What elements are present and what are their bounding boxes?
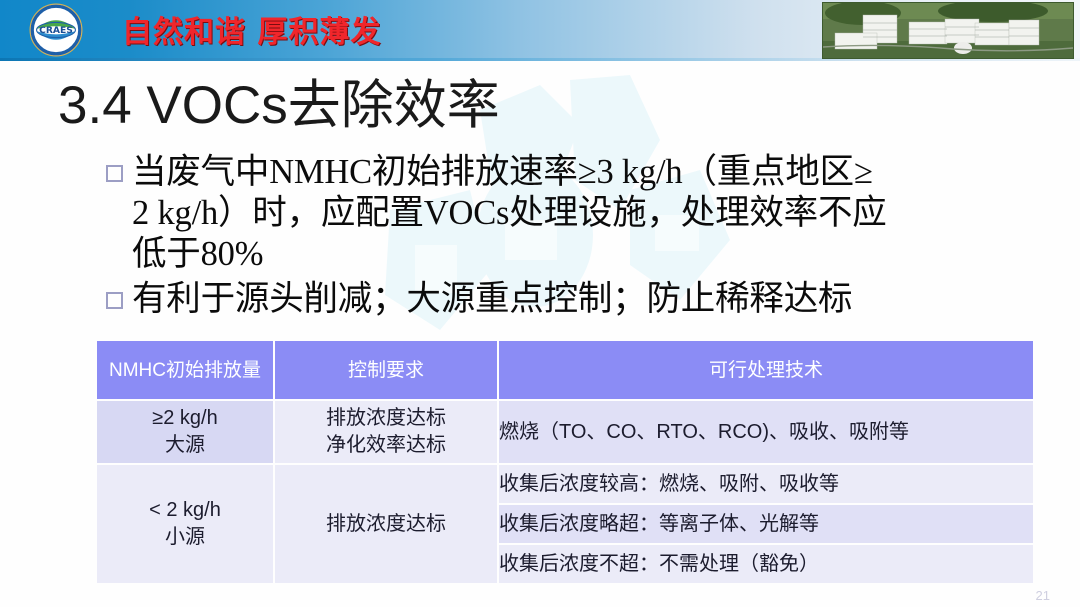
- req-large-line2: 净化效率达标: [275, 432, 497, 459]
- col-header-technology: 可行处理技术: [499, 341, 1033, 399]
- source-small-line1: < 2 kg/h: [97, 497, 273, 524]
- cell-tech-small-slight: 收集后浓度略超：等离子体、光解等: [499, 505, 1033, 543]
- source-small-line2: 小源: [97, 524, 273, 551]
- header-slogan: 自然和谐 厚积薄发: [122, 7, 381, 51]
- col-header-emission: NMHC初始排放量: [97, 341, 273, 399]
- cell-tech-small-under: 收集后浓度不超：不需处理（豁免）: [499, 545, 1033, 583]
- table-row-small-source-1: < 2 kg/h 小源 排放浓度达标 收集后浓度较高：燃烧、吸附、吸收等: [97, 465, 1033, 503]
- page-title: 3.4 VOCs去除效率: [58, 63, 500, 139]
- table-header-row: NMHC初始排放量 控制要求 可行处理技术: [97, 341, 1033, 399]
- bullet-item-2: 有利于源头削减；大源重点控制；防止稀释达标: [106, 279, 1036, 320]
- vocs-treatment-table: NMHC初始排放量 控制要求 可行处理技术 ≥2 kg/h 大源 排放浓度达标 …: [95, 339, 1035, 585]
- source-large-line2: 大源: [97, 432, 273, 459]
- col-header-requirement: 控制要求: [275, 341, 497, 399]
- cell-source-large: ≥2 kg/h 大源: [97, 401, 273, 463]
- req-large-line1: 排放浓度达标: [275, 405, 497, 432]
- campus-aerial-illustration: [823, 3, 1073, 58]
- square-bullet-icon: [106, 292, 123, 309]
- cell-requirement-small: 排放浓度达标: [275, 465, 497, 583]
- cell-tech-large: 燃烧（TO、CO、RTO、RCO)、吸收、吸附等: [499, 401, 1033, 463]
- bullet-item-2-text: 有利于源头削减；大源重点控制；防止稀释达标: [132, 279, 852, 320]
- craes-logo-icon: CRAES: [28, 3, 84, 57]
- page-number: 21: [1036, 588, 1050, 603]
- table-row-large-source: ≥2 kg/h 大源 排放浓度达标 净化效率达标 燃烧（TO、CO、RTO、RC…: [97, 401, 1033, 463]
- bullet-1-line-3: 低于80%: [132, 235, 263, 273]
- bullet-2-line-1: 有利于源头削减；大源重点控制；防止稀释达标: [132, 280, 852, 318]
- logo-wordmark: CRAES: [39, 25, 73, 36]
- header-campus-photo: [822, 2, 1074, 59]
- bullet-1-line-1: 当废气中NMHC初始排放速率≥3 kg/h（重点地区≥: [132, 153, 873, 191]
- slide-canvas: CRAES 自然和谐 厚积薄发: [0, 0, 1080, 607]
- bullet-1-line-2: 2 kg/h）时，应配置VOCs处理设施，处理效率不应: [132, 194, 887, 232]
- bullet-list: 当废气中NMHC初始排放速率≥3 kg/h（重点地区≥ 2 kg/h）时，应配置…: [106, 152, 1036, 324]
- cell-source-small: < 2 kg/h 小源: [97, 465, 273, 583]
- bullet-item-1-text: 当废气中NMHC初始排放速率≥3 kg/h（重点地区≥ 2 kg/h）时，应配置…: [132, 152, 887, 275]
- source-large-line1: ≥2 kg/h: [97, 405, 273, 432]
- cell-requirement-large: 排放浓度达标 净化效率达标: [275, 401, 497, 463]
- cell-tech-small-high: 收集后浓度较高：燃烧、吸附、吸收等: [499, 465, 1033, 503]
- bullet-item-1: 当废气中NMHC初始排放速率≥3 kg/h（重点地区≥ 2 kg/h）时，应配置…: [106, 152, 1036, 275]
- square-bullet-icon: [106, 165, 123, 182]
